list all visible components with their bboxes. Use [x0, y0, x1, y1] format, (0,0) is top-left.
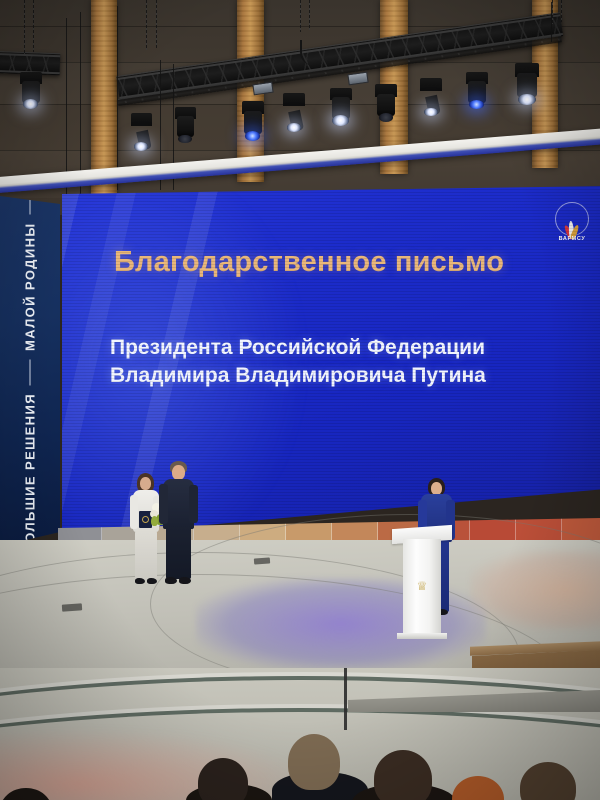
awardee-trousers — [135, 530, 157, 580]
side-banner-dash — [29, 359, 31, 385]
spotlight-fixture — [420, 78, 442, 115]
person-presenter — [158, 461, 200, 589]
truss-chain — [309, 0, 310, 30]
presenter-arm-left — [159, 484, 168, 524]
presenter-arm-right — [189, 485, 198, 523]
presenter-trousers — [166, 527, 191, 579]
spotlight-fixture — [330, 88, 352, 124]
spotlight-fixture — [20, 72, 42, 108]
varmsu-label: ВАРМСУ — [559, 236, 586, 242]
side-banner: Большие решения Малой Родины — [0, 196, 60, 546]
truss-chain — [24, 0, 25, 54]
spotlight-fixture — [466, 72, 488, 108]
truss-chain — [33, 0, 34, 52]
podium-column: ♕ — [403, 539, 441, 639]
side-banner-text-group: Большие решения Малой Родины — [23, 189, 38, 554]
awardee-shoe — [135, 578, 145, 584]
screen-subtitle-line2: Владимира Владимировича Путина — [110, 364, 486, 389]
truss-chain — [561, 0, 562, 22]
floor-hatch — [254, 557, 270, 564]
truss-chain — [156, 0, 157, 48]
russian-eagle-emblem-icon: ♕ — [415, 579, 428, 594]
varmsu-logo: ВАРМСУ — [544, 202, 600, 246]
awardee-head — [140, 477, 151, 490]
spotlight-fixture — [283, 93, 305, 131]
presenter-head — [172, 465, 185, 480]
audience-head — [374, 750, 432, 800]
truss-chain — [146, 0, 147, 50]
spotlight-fixture — [375, 84, 397, 121]
suspension-wire — [66, 18, 67, 196]
audience-head — [198, 758, 248, 800]
stage-photograph: Благодарственное письмо Президента Росси… — [0, 0, 600, 800]
screen-subtitle-line1: Президента Российской Федерации — [110, 336, 485, 361]
side-banner-line2: Малой Родины — [23, 223, 38, 352]
truss-chain — [552, 0, 553, 24]
side-banner-line1: Большие решения — [23, 393, 38, 553]
floor-hatch — [62, 603, 82, 611]
spotlight-fixture — [175, 107, 196, 142]
presenter-shoe — [179, 577, 191, 584]
spotlight-fixture — [242, 101, 264, 139]
awardee-shoe — [147, 578, 157, 584]
speaker-podium: ♕ — [392, 527, 452, 639]
spotlight-fixture — [515, 63, 539, 103]
power-cable — [300, 40, 326, 66]
presenter-shoe — [165, 577, 177, 584]
awardee-arm-left — [130, 495, 138, 529]
handrail-post — [344, 668, 347, 730]
screen-title: Благодарственное письмо — [114, 246, 504, 279]
spotlight-fixture — [131, 113, 152, 150]
podium-base — [397, 633, 447, 639]
suspension-wire — [117, 6, 118, 190]
truss-chain — [300, 0, 301, 32]
audience-head — [288, 734, 340, 790]
suspension-wire — [551, 2, 552, 42]
